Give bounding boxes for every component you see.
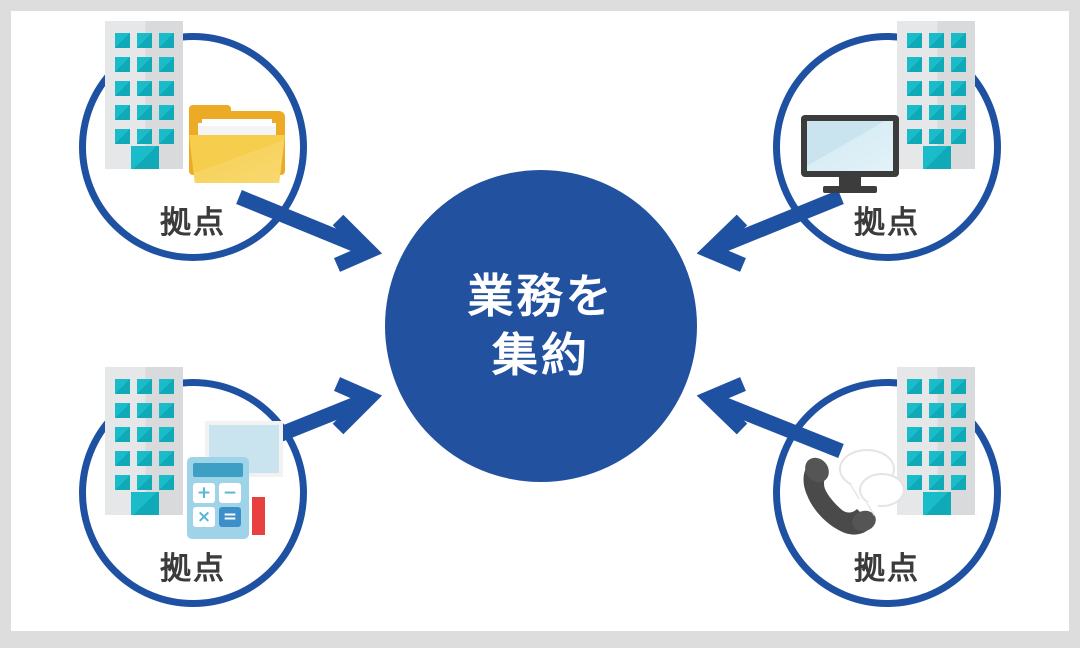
phone-chat-icon (797, 447, 901, 543)
folder-icon (189, 111, 285, 183)
calculator-chart-icon: + − × = (187, 421, 283, 539)
site-label-top-right: 拠点 (773, 208, 1001, 239)
building-icon (105, 367, 183, 515)
diagram-frame: 拠点 (0, 0, 1080, 648)
speech-bubble-small (859, 473, 905, 507)
diagram-canvas: 拠点 (11, 11, 1069, 631)
building-icon (897, 367, 975, 515)
site-node-bottom-left[interactable]: + − × = 拠点 (79, 379, 307, 607)
building-icon (897, 21, 975, 169)
calculator-key-minus: − (219, 483, 241, 503)
center-hub-line-2: 集約 (492, 326, 590, 385)
center-hub-line-1: 業務を (468, 267, 615, 326)
site-node-top-right[interactable]: 拠点 (773, 33, 1001, 261)
monitor-icon (801, 115, 899, 193)
calculator-key-plus: + (193, 483, 215, 503)
site-label-bottom-left: 拠点 (79, 554, 307, 585)
center-hub[interactable]: 業務を 集約 (385, 170, 697, 482)
building-icon (105, 21, 183, 169)
calculator-key-equals: = (219, 507, 241, 527)
site-label-top-left: 拠点 (79, 208, 307, 239)
site-label-bottom-right: 拠点 (773, 554, 1001, 585)
site-node-bottom-right[interactable]: 拠点 (773, 379, 1001, 607)
calculator-key-multiply: × (193, 507, 215, 527)
site-node-top-left[interactable]: 拠点 (79, 33, 307, 261)
